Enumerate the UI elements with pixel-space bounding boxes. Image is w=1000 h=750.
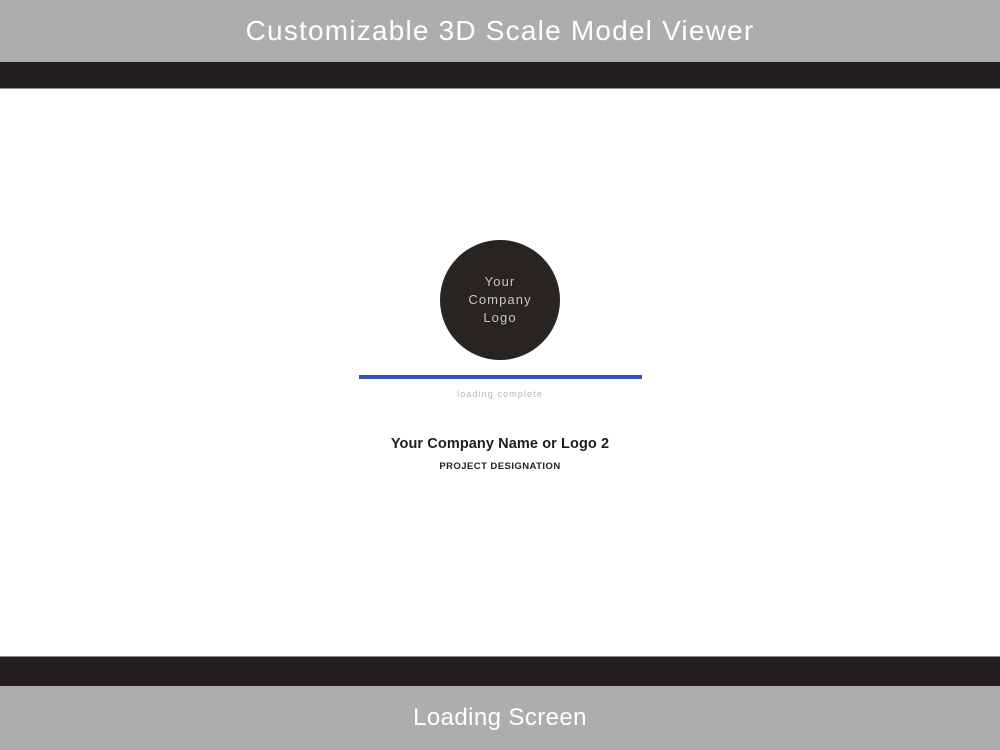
page-caption-band: Loading Screen	[0, 686, 1000, 750]
project-designation-label: PROJECT DESIGNATION	[439, 462, 560, 472]
loading-screen-page: Customizable 3D Scale Model Viewer Your …	[0, 0, 1000, 750]
loading-block: Your Company Logo loading complete Your …	[0, 90, 1000, 471]
company-name-label: Your Company Name or Logo 2	[391, 437, 609, 452]
bottom-divider-bar	[0, 656, 1000, 686]
page-title: Customizable 3D Scale Model Viewer	[246, 17, 755, 45]
page-caption: Loading Screen	[413, 706, 587, 730]
loading-status-text: loading complete	[457, 390, 543, 399]
page-title-band: Customizable 3D Scale Model Viewer	[0, 0, 1000, 62]
logo-line-2: Company	[468, 291, 531, 309]
loading-progress-fill	[359, 375, 642, 379]
viewer-stage: Your Company Logo loading complete Your …	[0, 90, 1000, 656]
logo-line-3: Logo	[483, 309, 516, 327]
loading-progress-bar	[359, 375, 642, 379]
company-logo-placeholder: Your Company Logo	[440, 240, 560, 360]
logo-line-1: Your	[485, 273, 516, 291]
top-divider-bar	[0, 62, 1000, 89]
